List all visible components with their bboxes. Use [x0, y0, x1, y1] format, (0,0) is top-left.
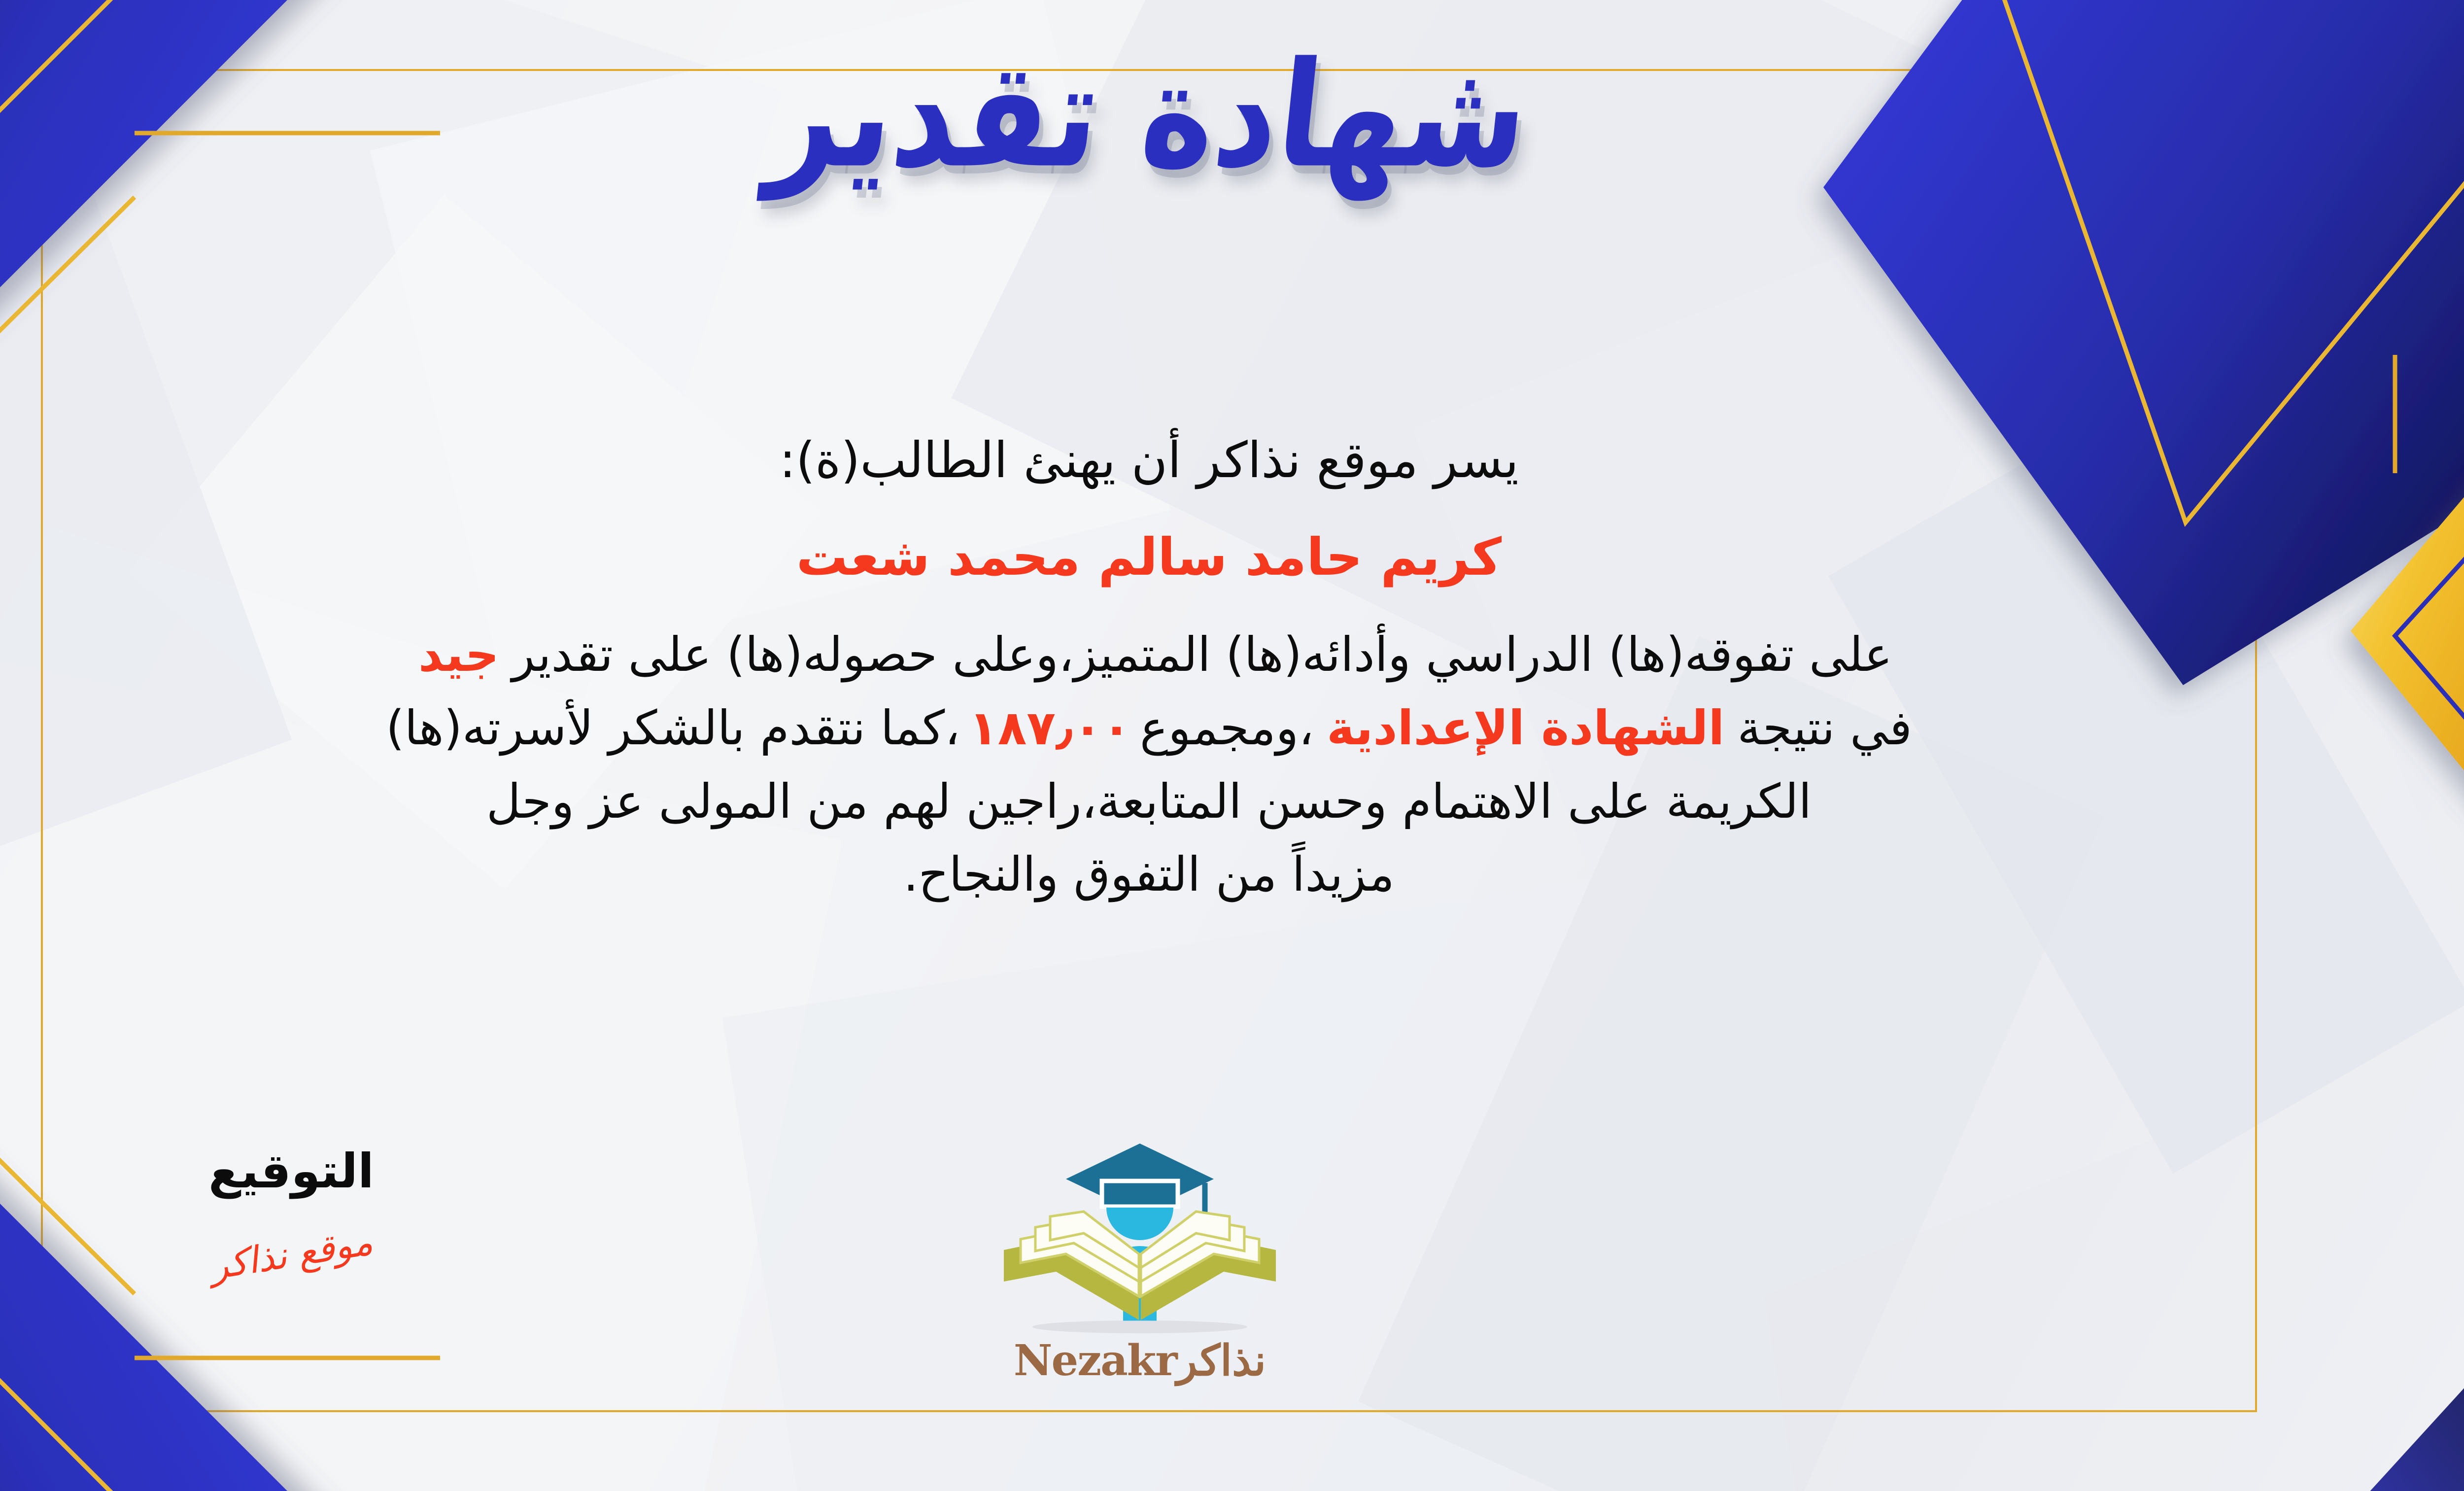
signature-label: التوقيع	[208, 1144, 374, 1199]
grade-value: جيد	[406, 627, 512, 682]
signature-block: التوقيع موقع نذاكر	[208, 1144, 374, 1276]
nezakr-logo: Nezakrنذاكر	[967, 1134, 1312, 1386]
exam-name: الشهادة الإعدادية	[1314, 700, 1737, 756]
award-text-2b: ،ومجموع	[1140, 700, 1314, 756]
total-score: ١٨٧٫٠٠	[960, 700, 1140, 756]
logo-wordmark-arabic: نذاكر	[1177, 1336, 1266, 1386]
student-name: كريم حامد سالم محمد شعت	[66, 520, 2232, 595]
certificate-title-area: شهادة تقدير	[0, 44, 2464, 186]
graduate-over-open-book-icon	[982, 1134, 1298, 1341]
award-text-1: على تفوقه(ها) الدراسي وأدائه(ها) المتميز…	[512, 627, 1892, 682]
certificate-body: يسر موقع نذاكر أن يهنئ الطالب(ة): كريم ح…	[66, 424, 2232, 911]
award-text-2c: ،كما نتقدم بالشكر لأسرته(ها)	[386, 700, 960, 756]
award-line-2: في نتيجةالشهادة الإعدادية،ومجموع١٨٧٫٠٠،ك…	[66, 692, 2232, 765]
award-line-1: على تفوقه(ها) الدراسي وأدائه(ها) المتميز…	[66, 618, 2232, 692]
award-line-3: الكريمة على الاهتمام وحسن المتابعة،راجين…	[66, 765, 2232, 838]
logo-wordmark-latin: Nezakr	[1014, 1336, 1177, 1386]
award-line-4: مزيداً من التفوق والنجاح.	[66, 838, 2232, 911]
certificate-canvas: شهادة تقدير يسر موقع نذاكر أن يهنئ الطال…	[0, 0, 2464, 1491]
award-paragraph: على تفوقه(ها) الدراسي وأدائه(ها) المتميز…	[66, 618, 2232, 911]
greeting-line: يسر موقع نذاكر أن يهنئ الطالب(ة):	[66, 424, 2232, 497]
logo-wordmark: Nezakrنذاكر	[967, 1336, 1312, 1386]
award-text-2a: في نتيجة	[1737, 700, 1912, 756]
page-title: شهادة تقدير	[762, 32, 1536, 199]
